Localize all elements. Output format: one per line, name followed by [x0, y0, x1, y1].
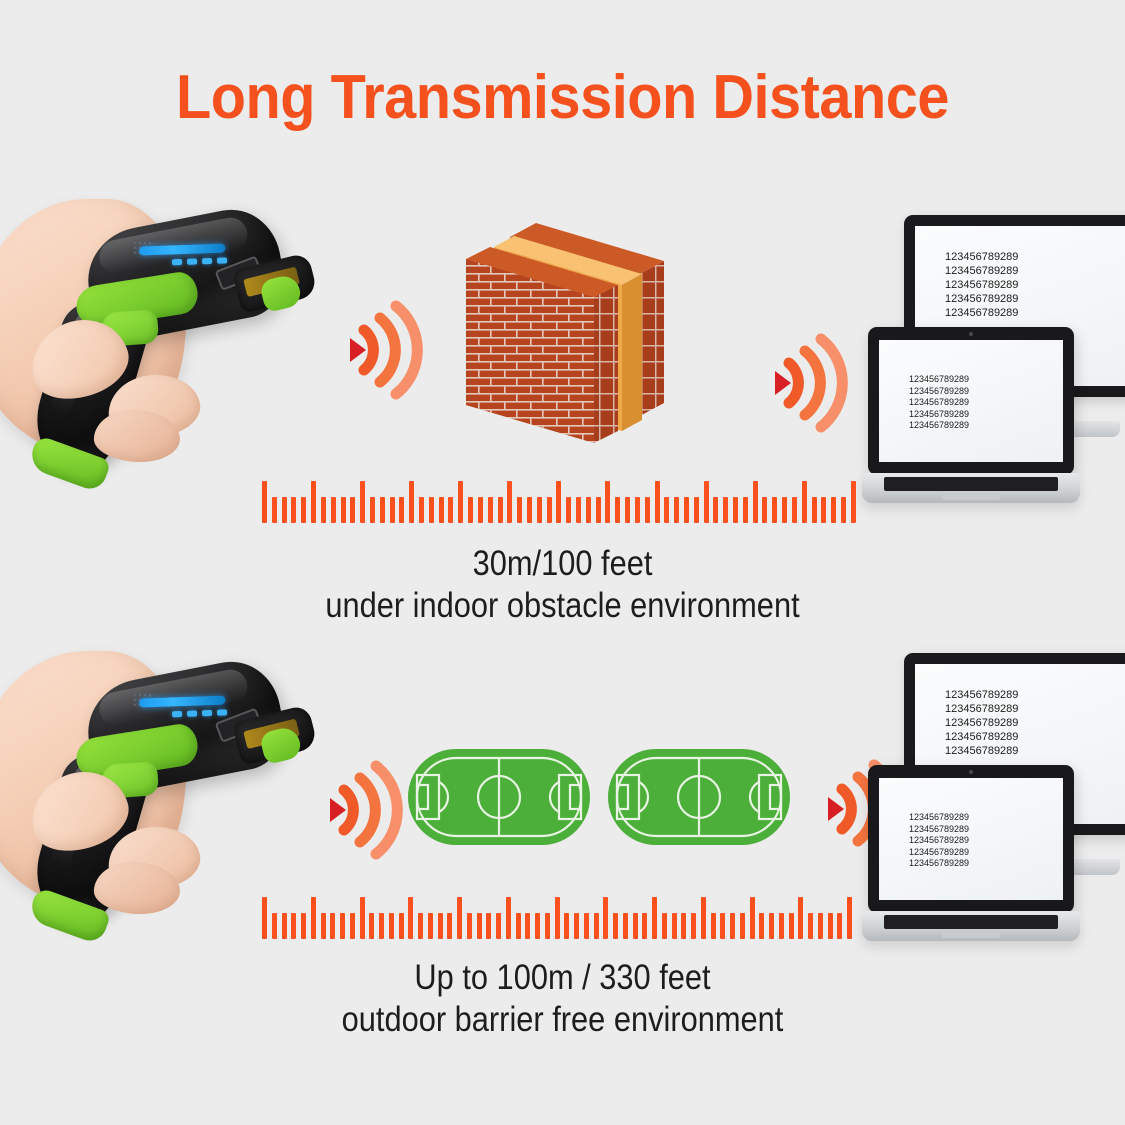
ruler-tick	[672, 913, 677, 939]
ruler-tick	[535, 913, 540, 939]
ruler-tick	[802, 481, 807, 523]
ruler-tick	[301, 913, 306, 939]
laptop-screen: 123456789289 123456789289 123456789289 1…	[879, 778, 1063, 900]
ruler-tick	[615, 497, 620, 523]
ruler-tick	[753, 481, 758, 523]
ruler-tick	[419, 497, 424, 523]
ruler-tick	[645, 497, 650, 523]
ruler-tick	[477, 913, 482, 939]
ruler-tick	[733, 497, 738, 523]
ruler-tick	[762, 497, 767, 523]
infographic-page: Long Transmission Distance	[0, 0, 1125, 1125]
ruler-tick	[360, 481, 365, 523]
ruler-tick	[486, 913, 491, 939]
ruler-tick	[596, 497, 601, 523]
ruler-tick	[447, 913, 452, 939]
ruler-tick	[498, 497, 503, 523]
laptop-trackpad[interactable]	[942, 493, 1000, 500]
ruler-tick	[586, 497, 591, 523]
ruler-tick	[556, 481, 561, 523]
ruler-tick	[369, 913, 374, 939]
ruler-tick	[350, 913, 355, 939]
caption-outdoor-line2: outdoor barrier free environment	[68, 999, 1058, 1041]
laptop-lid: 123456789289 123456789289 123456789289 1…	[868, 765, 1074, 913]
ruler-tick	[603, 897, 608, 939]
barcode-scanner-indoor	[0, 195, 310, 505]
ruler-tick	[633, 913, 638, 939]
signal-wave-right-indoor	[755, 333, 850, 433]
ruler-tick	[594, 913, 599, 939]
ruler-tick	[457, 897, 462, 939]
signal-wave-left-outdoor	[310, 760, 405, 860]
monitor-barcode-text: 123456789289 123456789289 123456789289 1…	[945, 688, 1018, 758]
ruler-tick	[730, 913, 735, 939]
laptop: 123456789289 123456789289 123456789289 1…	[862, 327, 1080, 513]
ruler-tick	[545, 913, 550, 939]
ruler-tick	[655, 481, 660, 523]
ruler-tick	[566, 497, 571, 523]
ruler-tick	[743, 497, 748, 523]
section-outdoor: 123456789289 123456789289 123456789289 1…	[0, 625, 1125, 1065]
ruler-tick	[360, 897, 365, 939]
caption-indoor-line2: under indoor obstacle environment	[68, 585, 1058, 627]
ruler-tick	[740, 913, 745, 939]
laptop-screen: 123456789289 123456789289 123456789289 1…	[879, 340, 1063, 462]
ruler-tick	[635, 497, 640, 523]
ruler-tick	[507, 481, 512, 523]
ruler-tick	[821, 497, 826, 523]
brick-wall-obstacle	[452, 217, 692, 487]
ruler-tick	[613, 913, 618, 939]
ruler-tick	[429, 497, 434, 523]
ruler-tick	[584, 913, 589, 939]
ruler-tick	[837, 913, 842, 939]
ruler-tick	[311, 481, 316, 523]
ruler-tick	[390, 497, 395, 523]
ruler-tick	[564, 913, 569, 939]
ruler-tick	[282, 913, 287, 939]
ruler-tick	[439, 497, 444, 523]
laptop-lid: 123456789289 123456789289 123456789289 1…	[868, 327, 1074, 475]
ruler-tick	[798, 897, 803, 939]
ruler-tick	[769, 913, 774, 939]
ruler-tick	[408, 897, 413, 939]
ruler-tick	[438, 913, 443, 939]
ruler-tick	[574, 913, 579, 939]
ruler-tick	[291, 497, 296, 523]
ruler-tick	[272, 913, 277, 939]
section-indoor: 123456789289 123456789289 123456789289 1…	[0, 185, 1125, 625]
ruler-tick	[792, 497, 797, 523]
ruler-tick	[828, 913, 833, 939]
ruler-tick	[301, 497, 306, 523]
laptop-keyboard[interactable]	[884, 477, 1058, 491]
page-title: Long Transmission Distance	[39, 62, 1085, 133]
laptop: 123456789289 123456789289 123456789289 1…	[862, 765, 1080, 951]
ruler-tick	[711, 913, 716, 939]
ruler-tick	[321, 913, 326, 939]
ruler-tick	[380, 497, 385, 523]
ruler-tick	[681, 913, 686, 939]
ruler-tick	[691, 913, 696, 939]
laptop-keyboard[interactable]	[884, 915, 1058, 929]
ruler-tick	[812, 497, 817, 523]
ruler-tick	[772, 497, 777, 523]
ruler-tick	[701, 897, 706, 939]
caption-indoor-line1: 30m/100 feet	[68, 543, 1058, 585]
ruler-tick	[625, 497, 630, 523]
ruler-tick	[379, 913, 384, 939]
ruler-tick	[789, 913, 794, 939]
laptop-barcode-text: 123456789289 123456789289 123456789289 1…	[909, 374, 969, 432]
ruler-tick	[340, 913, 345, 939]
ruler-tick	[847, 897, 852, 939]
monitor-barcode-text: 123456789289 123456789289 123456789289 1…	[945, 250, 1018, 320]
caption-indoor: 30m/100 feet under indoor obstacle envir…	[68, 543, 1058, 627]
ruler-tick	[478, 497, 483, 523]
ruler-tick	[818, 913, 823, 939]
ruler-tick	[311, 897, 316, 939]
receivers-outdoor: 123456789289 123456789289 123456789289 1…	[862, 653, 1125, 953]
ruler-tick	[664, 497, 669, 523]
caption-outdoor: Up to 100m / 330 feet outdoor barrier fr…	[68, 957, 1058, 1041]
ruler-tick	[525, 913, 530, 939]
laptop-trackpad[interactable]	[942, 931, 1000, 938]
ruler-tick	[782, 497, 787, 523]
webcam-icon	[969, 770, 973, 774]
ruler-tick	[321, 497, 326, 523]
ruler-tick	[694, 497, 699, 523]
laptop-barcode-text: 123456789289 123456789289 123456789289 1…	[909, 812, 969, 870]
ruler-tick	[409, 481, 414, 523]
caption-outdoor-line1: Up to 100m / 330 feet	[68, 957, 1058, 999]
receivers-indoor: 123456789289 123456789289 123456789289 1…	[862, 215, 1125, 515]
ruler-tick	[331, 497, 336, 523]
webcam-icon	[969, 332, 973, 336]
sports-fields-obstacle	[408, 749, 790, 845]
ruler-tick	[713, 497, 718, 523]
ruler-tick	[684, 497, 689, 523]
ruler-tick	[623, 913, 628, 939]
ruler-tick	[750, 897, 755, 939]
ruler-tick	[330, 913, 335, 939]
ruler-tick	[389, 913, 394, 939]
ruler-tick	[576, 497, 581, 523]
signal-wave-left-indoor	[330, 300, 425, 400]
ruler-tick	[704, 481, 709, 523]
ruler-tick	[759, 913, 764, 939]
ruler-tick	[851, 481, 856, 523]
ruler-tick	[467, 913, 472, 939]
ruler-tick	[652, 897, 657, 939]
ruler-tick	[341, 497, 346, 523]
ruler-tick	[262, 481, 267, 523]
ruler-tick	[496, 913, 501, 939]
ruler-tick	[458, 481, 463, 523]
ruler-tick	[720, 913, 725, 939]
ruler-tick	[662, 913, 667, 939]
ruler-tick	[674, 497, 679, 523]
ruler-tick	[547, 497, 552, 523]
ruler-tick	[516, 913, 521, 939]
ruler-tick	[350, 497, 355, 523]
ruler-tick	[488, 497, 493, 523]
ruler-tick	[291, 913, 296, 939]
ruler-tick	[418, 913, 423, 939]
ruler-tick	[723, 497, 728, 523]
ruler-tick	[527, 497, 532, 523]
ruler-tick	[537, 497, 542, 523]
ruler-tick	[555, 897, 560, 939]
ruler-tick	[605, 481, 610, 523]
ruler-tick	[262, 897, 267, 939]
ruler-tick	[272, 497, 277, 523]
ruler-tick	[399, 497, 404, 523]
ruler-tick	[448, 497, 453, 523]
ruler-tick	[399, 913, 404, 939]
ruler-indoor	[262, 481, 856, 523]
ruler-tick	[831, 497, 836, 523]
ruler-tick	[808, 913, 813, 939]
ruler-tick	[468, 497, 473, 523]
ruler-tick	[428, 913, 433, 939]
ruler-tick	[841, 497, 846, 523]
ruler-outdoor	[262, 897, 852, 939]
ruler-tick	[282, 497, 287, 523]
ruler-tick	[642, 913, 647, 939]
ruler-tick	[517, 497, 522, 523]
ruler-tick	[779, 913, 784, 939]
ruler-tick	[506, 897, 511, 939]
ruler-tick	[370, 497, 375, 523]
